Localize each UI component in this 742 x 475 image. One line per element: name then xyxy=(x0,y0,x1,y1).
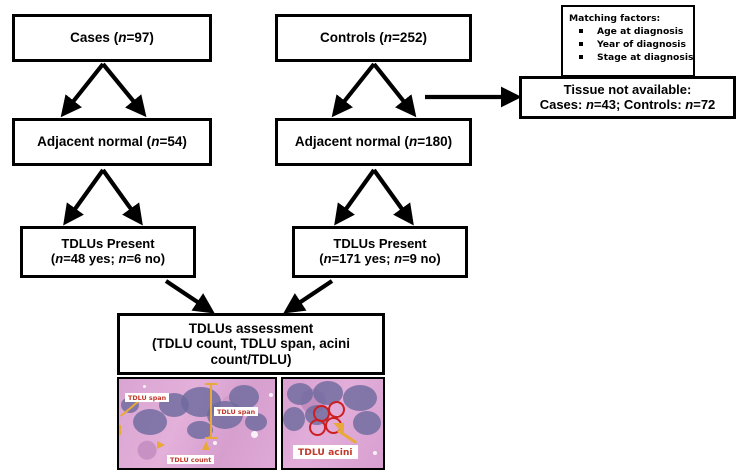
bullet-icon xyxy=(579,55,583,59)
span-measure-cap xyxy=(205,437,217,439)
matching-factor-label: Stage at diagnosis xyxy=(597,52,693,63)
tissue-speck xyxy=(213,441,217,445)
node-adjacent-normal-controls-label: Adjacent normal (n=180) xyxy=(295,134,452,150)
bullet-icon xyxy=(579,29,583,33)
node-tdlus-present-cases-label: TDLUs Present(n=48 yes; n=6 no) xyxy=(51,237,165,267)
acinus-circle-icon xyxy=(328,401,345,418)
arrow-adjacent-controls-to-tdlu xyxy=(341,170,407,216)
node-tdlus-assessment: TDLUs assessment(TDLU count, TDLU span, … xyxy=(117,313,385,375)
annotation-tdlu-span-right: TDLU span xyxy=(214,407,258,416)
span-measure-cap xyxy=(119,425,121,435)
matching-factor-item: Year of diagnosis xyxy=(579,38,689,51)
node-adjacent-normal-controls: Adjacent normal (n=180) xyxy=(275,118,472,166)
tdlu-cluster xyxy=(287,383,313,405)
tissue-speck xyxy=(143,385,146,388)
arrow-adjacent-cases-to-tdlu xyxy=(70,170,136,216)
histology-image-tdlu-acini: TDLU acini xyxy=(281,377,385,470)
arrow-cases-to-adjacent xyxy=(68,64,139,108)
span-measure-cap xyxy=(205,383,217,385)
span-measure-line xyxy=(210,383,212,439)
matching-factors-list: Age at diagnosis Year of diagnosis Stage… xyxy=(569,25,689,64)
annotation-tdlu-count: TDLU count xyxy=(167,455,214,464)
matching-factor-label: Age at diagnosis xyxy=(597,26,683,37)
bullet-icon xyxy=(579,42,583,46)
tdlu-cluster xyxy=(229,385,259,409)
node-tdlus-present-controls-label: TDLUs Present(n=171 yes; n=9 no) xyxy=(319,237,440,267)
tdlu-cluster xyxy=(343,385,377,411)
matching-factors-box: Matching factors: Age at diagnosis Year … xyxy=(561,5,695,77)
matching-factor-item: Stage at diagnosis xyxy=(579,51,689,64)
annotation-tdlu-span-left: TDLU span xyxy=(125,393,169,402)
node-tdlus-present-controls: TDLUs Present(n=171 yes; n=9 no) xyxy=(292,226,468,278)
node-controls: Controls (n=252) xyxy=(275,14,472,62)
node-adjacent-normal-cases-label: Adjacent normal (n=54) xyxy=(37,134,187,150)
node-tdlus-assessment-label: TDLUs assessment(TDLU count, TDLU span, … xyxy=(152,321,350,368)
node-tdlus-present-cases: TDLUs Present(n=48 yes; n=6 no) xyxy=(20,226,196,278)
node-cases: Cases (n=97) xyxy=(12,14,212,62)
tdlu-cluster xyxy=(353,411,381,435)
node-adjacent-normal-cases: Adjacent normal (n=54) xyxy=(12,118,212,166)
tdlu-cluster xyxy=(283,407,305,431)
arrow-tdlu-to-assessment xyxy=(166,281,332,307)
tissue-speck xyxy=(251,431,258,438)
matching-factors-title: Matching factors: xyxy=(569,12,689,25)
histology-image-tdlu-span-count: TDLU span TDLU span TDLU count xyxy=(117,377,277,470)
matching-factor-label: Year of diagnosis xyxy=(597,39,686,50)
arrow-controls-to-adjacent xyxy=(339,64,409,108)
node-controls-label: Controls (n=252) xyxy=(320,30,427,46)
node-cases-label: Cases (n=97) xyxy=(70,30,154,46)
matching-factor-item: Age at diagnosis xyxy=(579,25,689,38)
tissue-speck xyxy=(373,451,377,455)
annotation-tdlu-acini: TDLU acini xyxy=(293,445,358,459)
flowchart-canvas: Cases (n=97) Controls (n=252) Adjacent n… xyxy=(0,0,742,475)
tissue-speck xyxy=(269,393,273,397)
acinus-circle-icon xyxy=(309,419,326,436)
node-tissue-not-available-label: Tissue not available:Cases: n=43; Contro… xyxy=(540,83,716,113)
node-tissue-not-available: Tissue not available:Cases: n=43; Contro… xyxy=(519,76,736,119)
